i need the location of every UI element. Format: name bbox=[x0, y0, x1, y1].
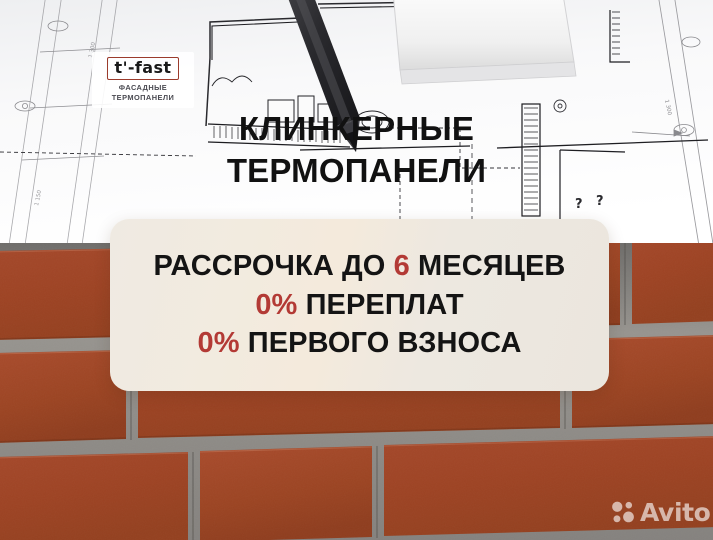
overpay-percent: 0% bbox=[255, 289, 297, 321]
overpay-label: ПЕРЕПЛАТ bbox=[297, 289, 463, 321]
avito-watermark: Avito bbox=[611, 500, 710, 525]
headline: КЛИНКЕРНЫЕ ТЕРМОПАНЕЛИ bbox=[0, 108, 713, 191]
downpayment-percent: 0% bbox=[197, 327, 239, 359]
headline-line-2: ТЕРМОПАНЕЛИ bbox=[0, 150, 713, 192]
avito-wordmark: Avito bbox=[640, 500, 710, 525]
offer-line-no-overpay: 0% ПЕРЕПЛАТ bbox=[255, 286, 463, 325]
svg-text:?: ? bbox=[575, 197, 583, 212]
installment-prefix: РАССРОЧКА ДО bbox=[154, 250, 394, 282]
installment-months: 6 bbox=[394, 250, 410, 282]
logo-subtitle-line2: ТЕРМОПАНЕЛИ bbox=[112, 93, 175, 102]
brand-logo: t'-fast ФАСАДНЫЕ ТЕРМОПАНЕЛИ bbox=[92, 52, 194, 108]
svg-text:?: ? bbox=[596, 194, 604, 209]
offer-line-installment: РАССРОЧКА ДО 6 МЕСЯЦЕВ bbox=[154, 247, 566, 286]
headline-line-1: КЛИНКЕРНЫЕ bbox=[0, 108, 713, 150]
advertisement-image: 1 300 1 150 bbox=[0, 0, 713, 540]
downpayment-label: ПЕРВОГО ВЗНОСА bbox=[240, 327, 522, 359]
installment-suffix: МЕСЯЦЕВ bbox=[410, 250, 566, 282]
avito-dots-icon bbox=[611, 500, 636, 525]
offer-card: РАССРОЧКА ДО 6 МЕСЯЦЕВ 0% ПЕРЕПЛАТ 0% ПЕ… bbox=[110, 219, 609, 391]
offer-line-no-downpayment: 0% ПЕРВОГО ВЗНОСА bbox=[197, 324, 521, 363]
logo-wordmark: t'-fast bbox=[107, 57, 180, 80]
logo-subtitle: ФАСАДНЫЕ ТЕРМОПАНЕЛИ bbox=[112, 83, 175, 103]
logo-subtitle-line1: ФАСАДНЫЕ bbox=[119, 83, 167, 92]
